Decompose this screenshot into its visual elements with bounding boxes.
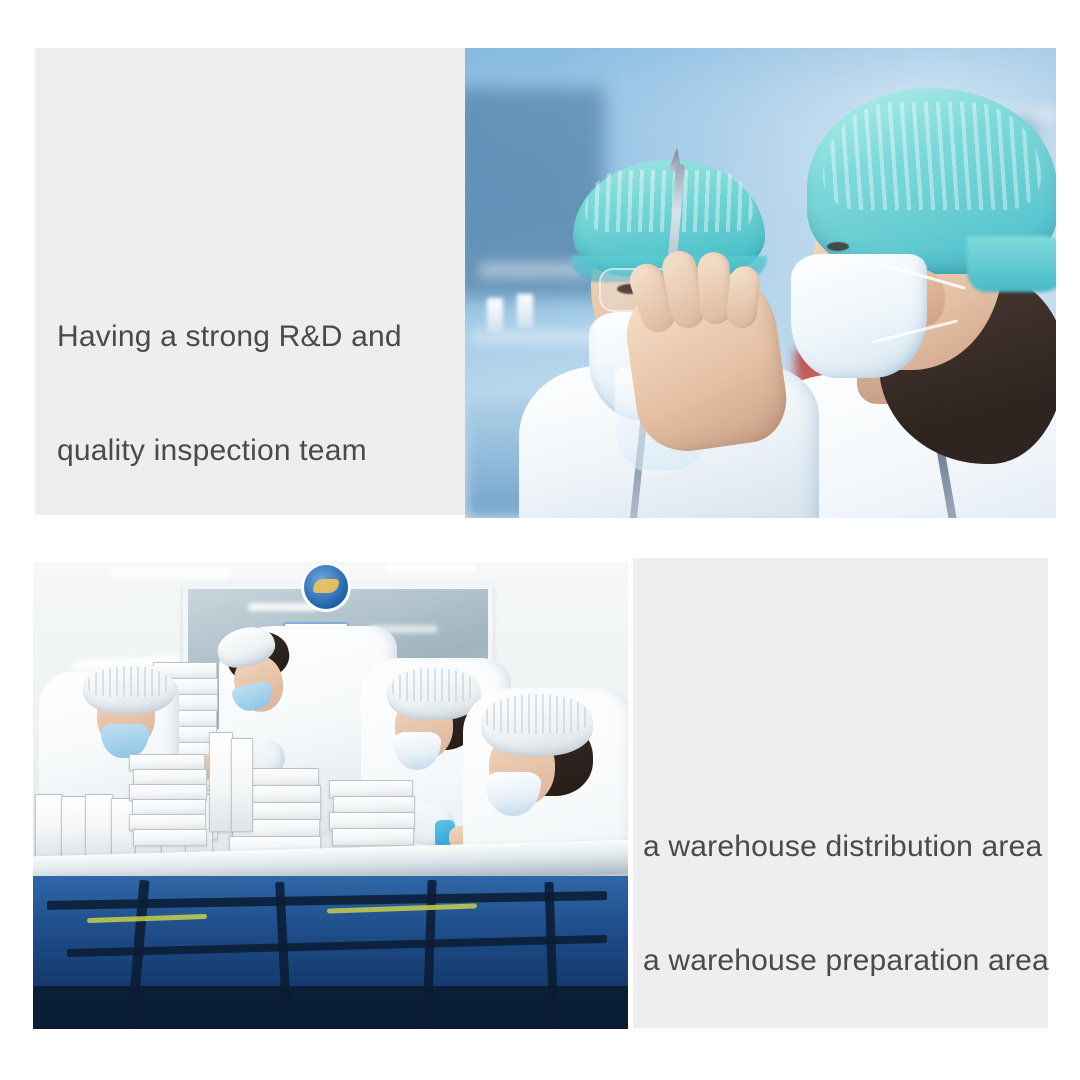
carton [61,796,87,858]
carton [133,829,207,846]
frame-rail-horizontal-1 [47,891,607,910]
rnd-caption: Having a strong R&D and quality inspecti… [57,242,457,546]
table-under-frame [33,876,628,1029]
banner-stage: Having a strong R&D and quality inspecti… [0,0,1080,1080]
carton [35,794,63,858]
carton [85,794,113,858]
carton-upright-2 [231,738,253,832]
lab-vial-1 [487,298,503,332]
frame-yellow-marking-2 [327,903,477,913]
carton-upright-1 [209,732,233,832]
warehouse-caption-line-2: a warehouse preparation area [643,942,1043,980]
rnd-caption-line-1: Having a strong R&D and [57,318,457,356]
warehouse-caption-line-1: a warehouse distribution area [643,828,1043,866]
ceiling-light-1 [111,568,231,578]
frame-rail-horizontal-2 [67,935,607,957]
lab-quality-inspection-photo [465,48,1056,518]
warehouse-packing-photo [33,562,628,1029]
frame-yellow-marking-1 [87,914,207,923]
finger-4 [726,265,761,329]
frame-lower-shadow [33,986,628,1029]
warehouse-caption: a warehouse distribution area a warehous… [643,752,1043,1056]
ceiling-light-3 [385,564,475,572]
carton [332,828,414,846]
warehouse-worker-4-hairnet [481,690,593,756]
rnd-caption-line-2: quality inspection team [57,432,457,470]
blue-circular-sign-icon [301,562,351,612]
warehouse-worker-1-hairnet [83,662,175,714]
